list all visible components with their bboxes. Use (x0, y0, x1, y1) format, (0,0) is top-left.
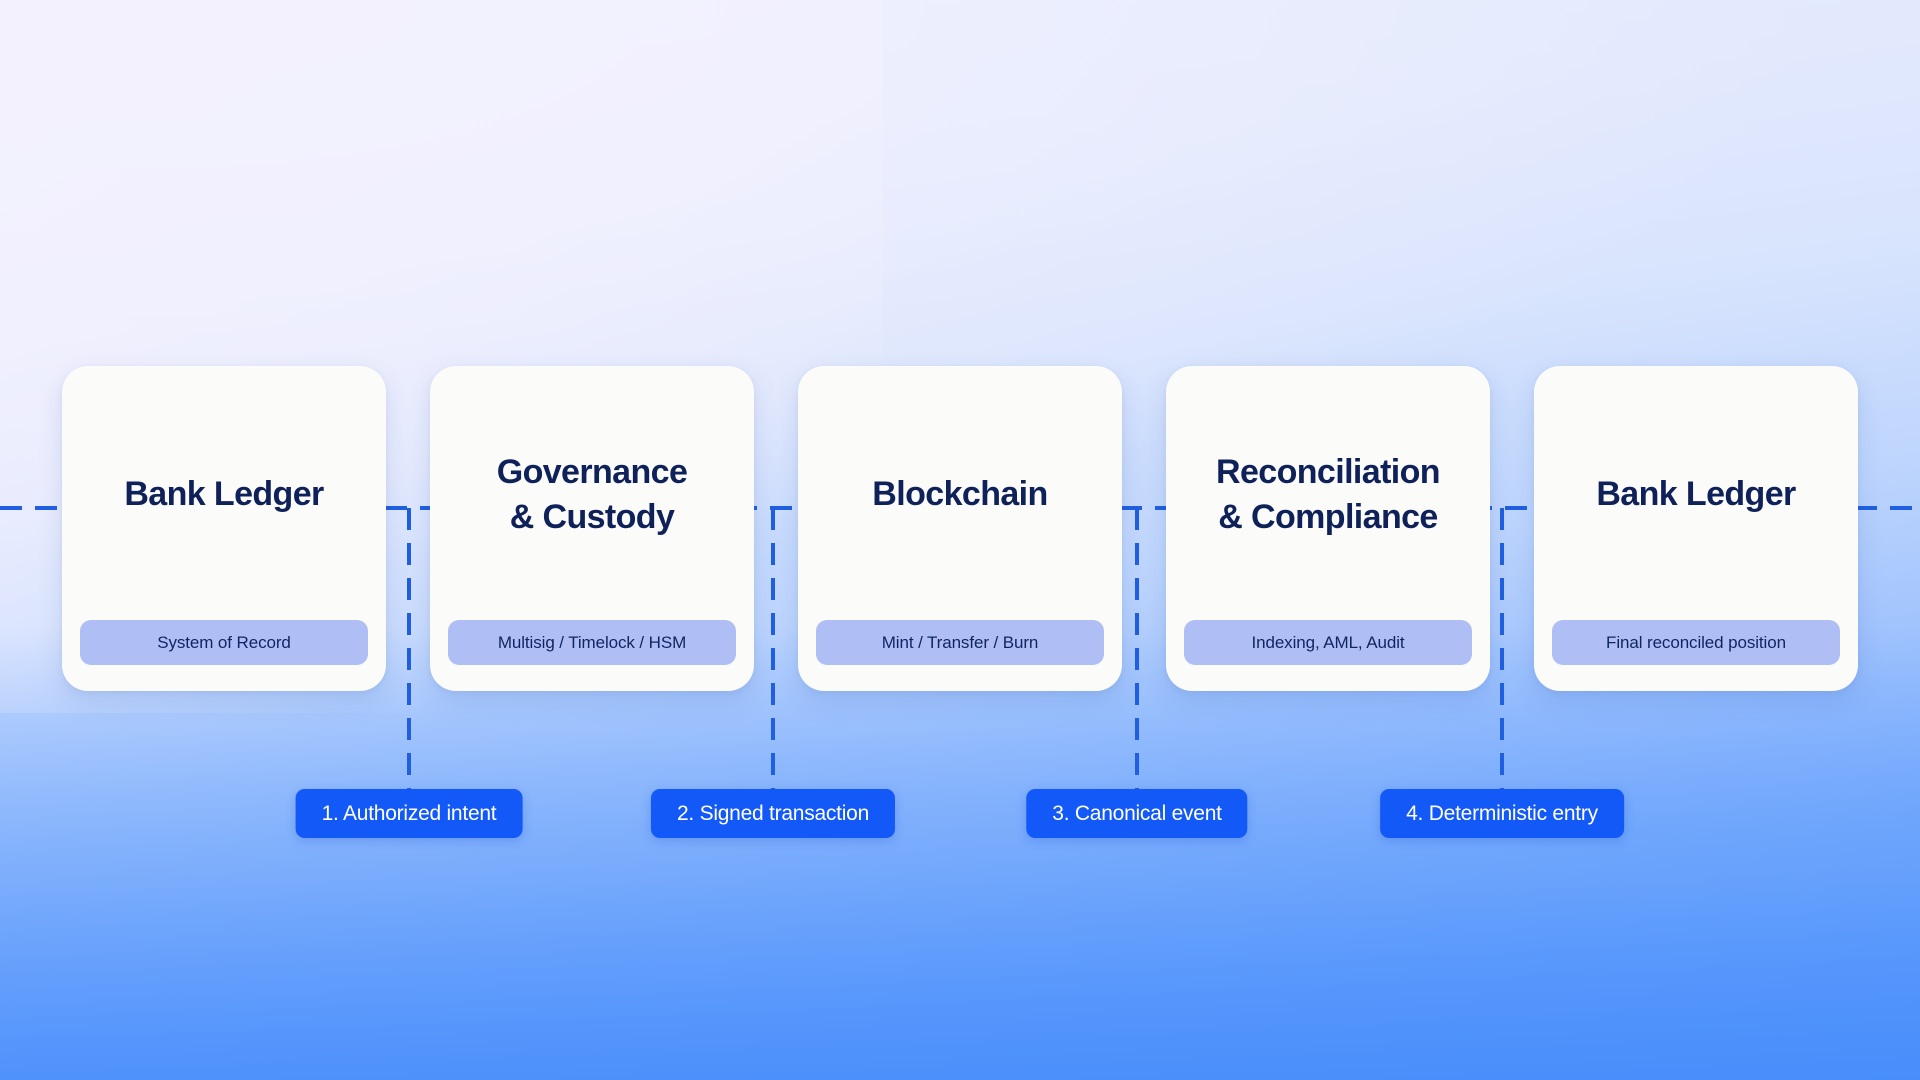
stage-card-pill: Mint / Transfer / Burn (816, 620, 1104, 665)
stage-card-pill: Multisig / Timelock / HSM (448, 620, 736, 665)
step-chip-3[interactable]: 3. Canonical event (1026, 789, 1247, 838)
stage-card-pill: Final reconciled position (1552, 620, 1840, 665)
stage-card-title: Reconciliation & Compliance (1216, 366, 1440, 620)
stage-card-pill: System of Record (80, 620, 368, 665)
step-chip-4[interactable]: 4. Deterministic entry (1380, 789, 1624, 838)
background-wash-bottom (0, 626, 1920, 1080)
stage-card-title: Bank Ledger (124, 366, 323, 620)
stage-card-pill: Indexing, AML, Audit (1184, 620, 1472, 665)
stage-card-bank-ledger-final[interactable]: Bank Ledger Final reconciled position (1534, 366, 1858, 691)
step-chip-2[interactable]: 2. Signed transaction (651, 789, 895, 838)
stage-card-blockchain[interactable]: Blockchain Mint / Transfer / Burn (798, 366, 1122, 691)
stage-card-title: Bank Ledger (1596, 366, 1795, 620)
stage-card-governance-custody[interactable]: Governance & Custody Multisig / Timelock… (430, 366, 754, 691)
stage-card-title: Governance & Custody (497, 366, 688, 620)
step-chip-1[interactable]: 1. Authorized intent (296, 789, 523, 838)
step-chips-row: 1. Authorized intent 2. Signed transacti… (0, 789, 1920, 841)
stage-card-reconciliation-compliance[interactable]: Reconciliation & Compliance Indexing, AM… (1166, 366, 1490, 691)
stage-cards-row: Bank Ledger System of Record Governance … (0, 366, 1920, 691)
stage-card-bank-ledger-source[interactable]: Bank Ledger System of Record (62, 366, 386, 691)
stage-card-title: Blockchain (872, 366, 1047, 620)
